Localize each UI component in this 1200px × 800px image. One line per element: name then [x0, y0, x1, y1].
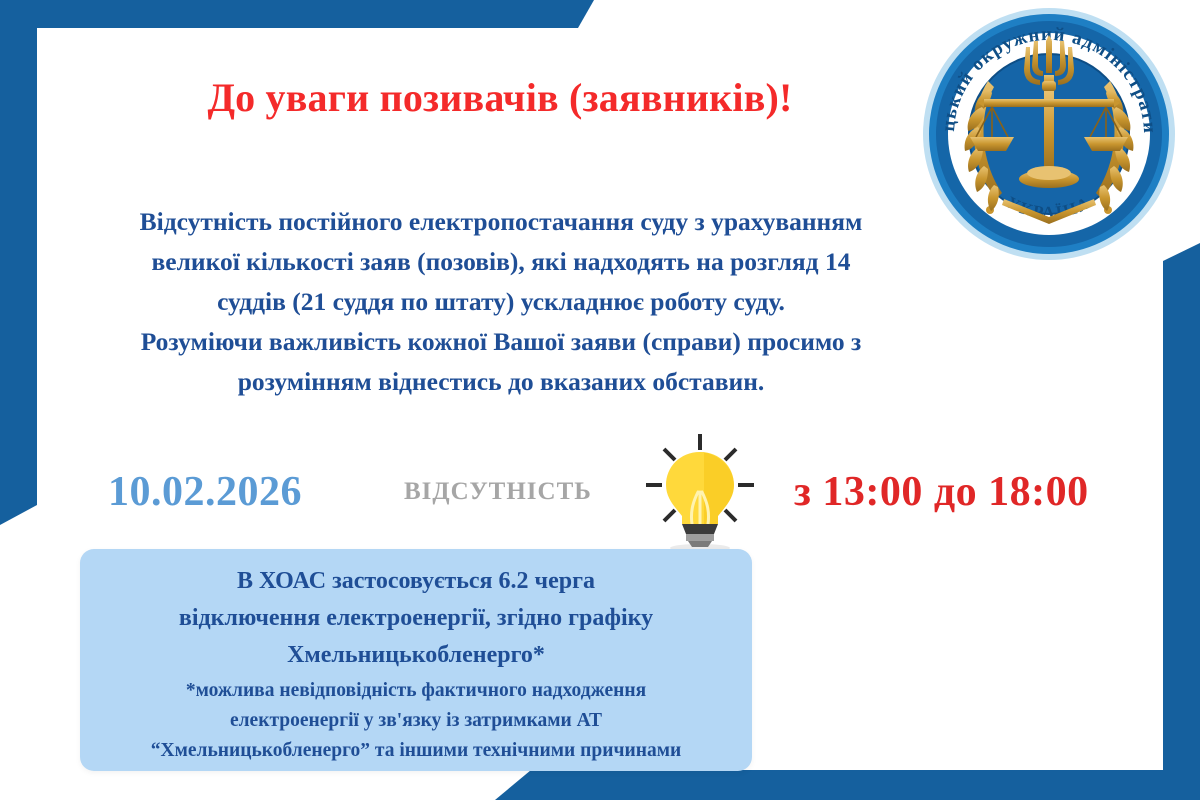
body-paragraph: Відсутність постійного електропостачання…: [52, 202, 950, 402]
announcement-poster: Хмельницький окружний адміністративний с…: [0, 0, 1200, 800]
frame-band-right: [1163, 243, 1200, 800]
page-title: До уваги позивачів (заявників)!: [60, 76, 940, 120]
court-seal-icon: Хмельницький окружний адміністративний с…: [918, 3, 1180, 261]
note-main-line: Хмельницькобленерго*: [98, 637, 734, 674]
frame-band-left: [0, 0, 37, 525]
note-main-line: В ХОАС застосовується 6.2 черга: [98, 563, 734, 600]
note-main-text: В ХОАС застосовується 6.2 черга відключе…: [98, 563, 734, 674]
note-footnote-text: *можлива невідповідність фактичного надх…: [90, 676, 742, 766]
note-main-line: відключення електроенергії, згідно графі…: [98, 600, 734, 637]
note-footnote-line: електроенергії у зв'язку із затримками А…: [90, 706, 742, 736]
frame-band-top: [0, 0, 594, 28]
outage-note-box: В ХОАС застосовується 6.2 черга відключе…: [80, 549, 752, 771]
outage-time-range: з 13:00 до 18:00: [794, 468, 1089, 516]
outage-date: 10.02.2026: [108, 468, 302, 516]
note-footnote-line: *можлива невідповідність фактичного надх…: [90, 676, 742, 706]
lightbulb-icon: [640, 430, 760, 555]
body-line: Розуміючи важливість кожної Вашої заяви …: [52, 322, 950, 362]
body-line: суддів (21 суддя по штату) ускладнює роб…: [52, 282, 950, 322]
absence-label: ВІДСУТНІСТЬ: [404, 478, 592, 506]
body-line: великої кількості заяв (позовів), які на…: [52, 242, 950, 282]
body-line: Відсутність постійного електропостачання…: [52, 202, 950, 242]
frame-band-bottom: [495, 770, 1200, 800]
note-footnote-line: “Хмельницькобленерго” та іншими технічни…: [90, 736, 742, 766]
body-line: розумінням віднестись до вказаних обстав…: [52, 362, 950, 402]
